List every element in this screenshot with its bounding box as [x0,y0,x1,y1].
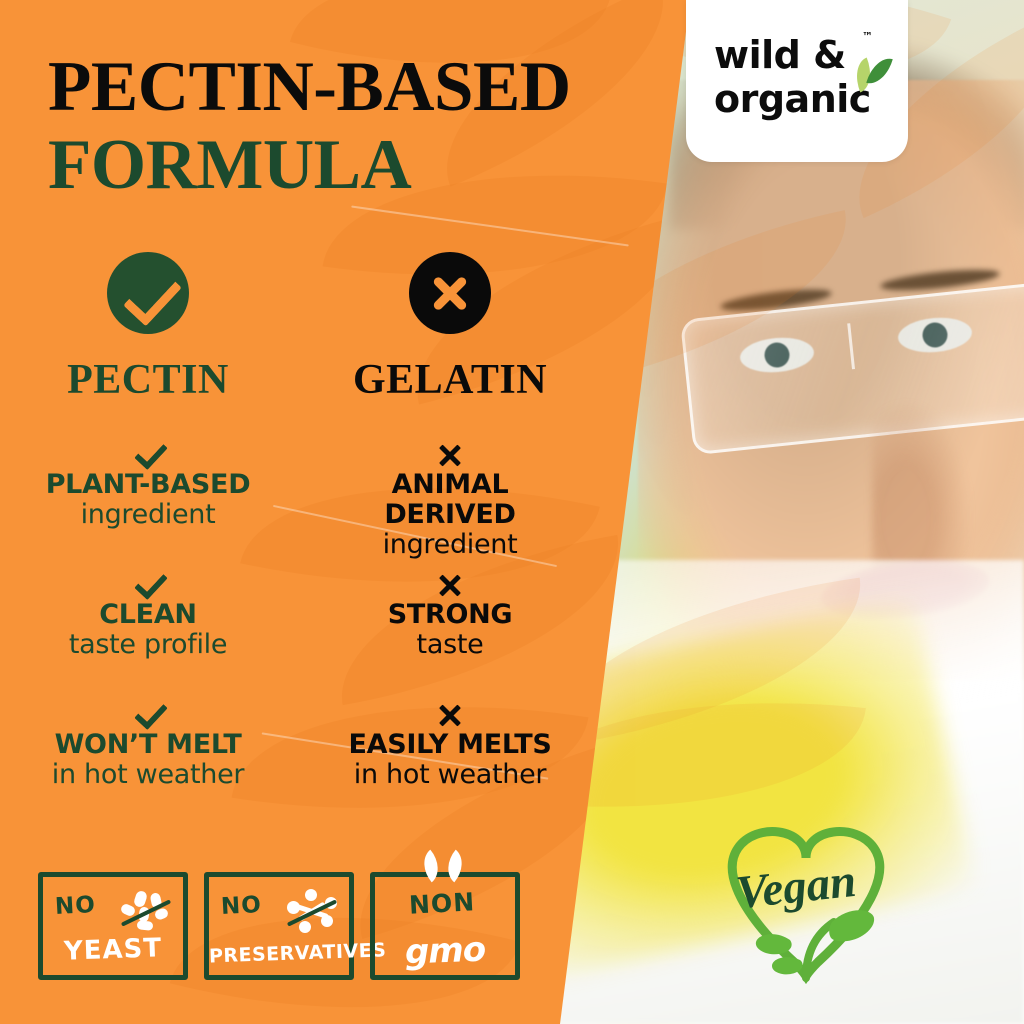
nose [872,400,972,570]
row-sub-text: in hot weather [23,760,273,790]
badge-word: PRESERVATIVES [209,941,350,968]
badge-word: YEAST [43,933,184,968]
row-sub-text: taste profile [23,630,273,660]
comparison-rows: PLANT-BASED ingredient ANIMAL DERIVED in… [0,440,590,830]
column-header-gelatin: GELATIN [330,252,570,404]
badge-prefix: NO [220,892,262,920]
row-main-text: CLEAN [23,600,273,630]
column-title-right: GELATIN [330,356,570,404]
cell-pectin-1: PLANT-BASED ingredient [23,440,273,530]
row-main-text: STRONG [325,600,575,630]
trademark-symbol: ™ [862,30,873,43]
badge-prefix: NON [408,887,476,919]
logo-line-1: wild & [714,36,871,74]
no-preservatives-icon [283,889,339,935]
cross-glyph [429,272,471,314]
check-icon [23,570,273,600]
row-main-text: ANIMAL DERIVED [325,470,575,530]
row-main-text: PLANT-BASED [23,470,273,500]
check-circle-icon [107,252,189,334]
logo-line-2: organic [714,80,871,118]
vegan-badge: Vegan [706,822,906,1002]
badge-no-yeast: NO YEAST [38,872,188,980]
cell-gelatin-3: EASILY MELTS in hot weather [325,700,575,790]
infographic-canvas: PECTIN-BASED FORMULA wild & organic ™ PE… [0,0,1024,1024]
row-sub-text: in hot weather [325,760,575,790]
badge-non-gmo: NON gmo [370,872,520,980]
badge-no-preservatives: NO PRESERVATIVES [204,872,354,980]
row-main-text: WON’T MELT [23,730,273,760]
badge-word: gmo [374,929,515,974]
check-glyph [123,267,182,327]
cross-icon [325,570,575,600]
brand-logo[interactable]: wild & organic ™ [686,0,908,162]
page-title: PECTIN-BASED FORMULA [48,52,688,201]
cell-gelatin-1: ANIMAL DERIVED ingredient [325,440,575,561]
row-sub-text: taste [325,630,575,660]
check-icon [23,700,273,730]
cell-pectin-3: WON’T MELT in hot weather [23,700,273,790]
column-header-pectin: PECTIN [28,252,268,404]
row-sub-text: ingredient [23,500,273,530]
cross-circle-icon [409,252,491,334]
no-yeast-icon [117,889,173,935]
cross-icon [325,440,575,470]
logo-wordmark: wild & organic [714,36,871,118]
row-sub-text: ingredient [325,530,575,560]
check-icon [23,440,273,470]
headline-line-1: PECTIN-BASED [48,52,688,122]
comparison-row: CLEAN taste profile STRONG taste [0,570,590,700]
cell-pectin-2: CLEAN taste profile [23,570,273,660]
cross-icon [325,700,575,730]
cell-gelatin-2: STRONG taste [325,570,575,660]
comparison-row: PLANT-BASED ingredient ANIMAL DERIVED in… [0,440,590,570]
headline-line-2: FORMULA [48,130,688,200]
row-main-text: EASILY MELTS [325,730,575,760]
badge-prefix: NO [54,892,96,920]
leaf-icon [417,851,477,879]
column-title-left: PECTIN [28,356,268,404]
comparison-row: WON’T MELT in hot weather EASILY MELTS i… [0,700,590,830]
